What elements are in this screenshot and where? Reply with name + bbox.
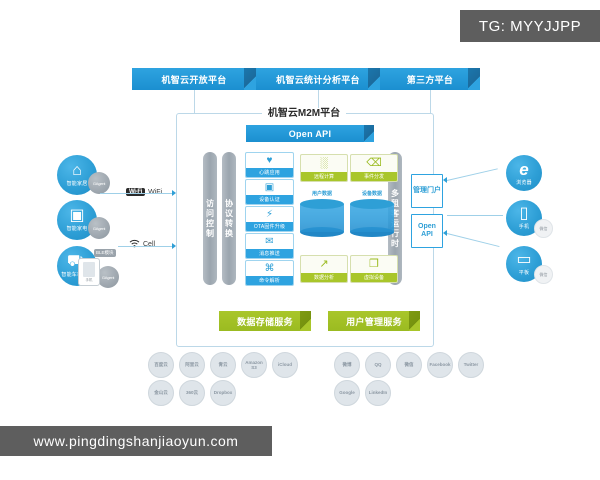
tv-icon: ▣ xyxy=(69,208,84,224)
banner-user-management-label: 用户管理服务 xyxy=(346,315,402,328)
card-virtual-device-label: 虚拟设备 xyxy=(351,273,397,282)
logo-label: 青云 xyxy=(219,362,228,367)
gauge-icon: ░ xyxy=(301,155,347,172)
ie-icon: e xyxy=(519,161,528,178)
gagent-badge-label: GAgent xyxy=(93,181,105,186)
logo-twitter[interactable]: Twitter xyxy=(458,352,484,378)
pillar-access-control-label: 访问控制 xyxy=(205,199,216,239)
banner-open-platform[interactable]: 机智云开放平台 xyxy=(132,68,256,90)
card-remote-control[interactable]: ░ 远程计算 xyxy=(300,154,348,182)
banner-stats-platform-label: 机智云统计分析平台 xyxy=(276,73,360,86)
banner-data-storage-service[interactable]: 数据存储服务 xyxy=(219,311,311,331)
logo-aliyun[interactable]: 阿里云 xyxy=(179,352,205,378)
device-auth-icon: ▣ xyxy=(246,180,293,195)
gagent-badge-label: GAgent xyxy=(93,226,105,231)
banner-data-storage-label: 数据存储服务 xyxy=(237,315,293,328)
logo-label: Amazon S3 xyxy=(244,360,264,370)
connector-line xyxy=(100,193,172,194)
logo-qq[interactable]: QQ xyxy=(365,352,391,378)
open-api-banner-label: Open API xyxy=(289,129,332,139)
card-ota-upgrade[interactable]: ⚡ OTA固件升级 xyxy=(245,206,294,232)
connector-line xyxy=(447,168,498,181)
box-open-api[interactable]: Open API xyxy=(411,214,443,248)
connector-arrow xyxy=(172,243,176,249)
signal-icon xyxy=(129,239,140,249)
card-device-auth[interactable]: ▣ 设备认证 xyxy=(245,179,294,205)
logo-google[interactable]: Google xyxy=(334,380,360,406)
logo-label: 360云 xyxy=(186,390,198,395)
heart-pulse-icon: ♥ xyxy=(246,153,293,168)
gagent-badge: GAgent xyxy=(88,217,110,239)
logo-label: 微博 xyxy=(343,362,352,367)
cylinder-top xyxy=(300,199,344,209)
banner-open-platform-label: 机智云开放平台 xyxy=(161,73,226,86)
logo-icloud[interactable]: iCloud xyxy=(272,352,298,378)
pillar-protocol-conversion: 协议转换 xyxy=(222,152,236,285)
banner-third-party-platform[interactable]: 第三方平台 xyxy=(380,68,480,90)
logo-label: 微信 xyxy=(405,362,414,367)
wechat-badge-label: 微信 xyxy=(540,226,548,232)
terminal-icon: ⌫ xyxy=(351,155,397,172)
card-data-analysis-label: 数据分析 xyxy=(301,273,347,282)
database-user-data: 用户数据 xyxy=(300,190,344,237)
card-remote-control-label: 远程计算 xyxy=(301,172,347,181)
ota-bolt-icon: ⚡ xyxy=(246,207,293,222)
card-command-parse-label: 命令解析 xyxy=(246,276,293,285)
connector-line xyxy=(447,233,500,247)
ble-module-badge: BLE模块 xyxy=(94,249,116,257)
logo-label: QQ xyxy=(374,362,381,367)
logo-label: Google xyxy=(339,390,355,395)
phone-screen-icon xyxy=(83,262,95,277)
box-open-api-label: Open API xyxy=(412,223,442,240)
panel-title: 机智云M2M平台 xyxy=(176,104,432,119)
node-browser-label: 浏览器 xyxy=(516,179,532,186)
connector-line xyxy=(118,246,172,247)
card-virtual-device[interactable]: ❐ 虚拟设备 xyxy=(350,255,398,283)
card-ota-upgrade-label: OTA固件升级 xyxy=(246,222,293,231)
banner-fold-corner xyxy=(368,68,380,90)
logo-dropbox[interactable]: Dropbox xyxy=(210,380,236,406)
virtual-device-icon: ❐ xyxy=(351,256,397,273)
banner-third-party-label: 第三方平台 xyxy=(407,73,454,86)
connector-line xyxy=(447,215,503,216)
phone-icon: ▯ xyxy=(520,206,529,222)
ble-phone-label: 手机 xyxy=(86,278,93,283)
wechat-badge-label: 微信 xyxy=(540,272,548,278)
node-smart-home-label: 智能家居 xyxy=(67,180,88,187)
card-heartbeat-label: 心跳应用 xyxy=(246,168,293,177)
gagent-badge-label: GAgent xyxy=(102,275,114,280)
command-icon: ⌘ xyxy=(246,261,293,276)
banner-fold-corner xyxy=(409,311,420,331)
wifi-icon: Wi-Fi xyxy=(126,188,145,196)
card-heartbeat[interactable]: ♥ 心跳应用 xyxy=(245,152,294,178)
wechat-badge: 微信 xyxy=(534,265,553,284)
banner-fold-corner xyxy=(300,311,311,331)
database-device-data-label: 设备数据 xyxy=(350,190,394,197)
logo-label: Twitter xyxy=(464,362,478,367)
node-tablet-label: 平板 xyxy=(519,269,529,276)
logo-label: 阿里云 xyxy=(185,362,199,367)
logo-qingcloud[interactable]: 青云 xyxy=(210,352,236,378)
open-api-banner[interactable]: Open API xyxy=(246,125,374,142)
logo-facebook[interactable]: Facebook xyxy=(427,352,453,378)
message-push-icon: ✉ xyxy=(246,234,293,249)
pillar-access-control: 访问控制 xyxy=(203,152,217,285)
box-admin-portal[interactable]: 管理门户 xyxy=(411,174,443,208)
line-chart-icon: ↗ xyxy=(301,256,347,273)
connector-arrow xyxy=(443,230,447,236)
node-smart-appliance-label: 智能家电 xyxy=(67,225,88,232)
logo-weibo[interactable]: 微博 xyxy=(334,352,360,378)
card-message-push-label: 消息推送 xyxy=(246,249,293,258)
logo-label: 百度云 xyxy=(154,362,168,367)
logo-label: iCloud xyxy=(278,362,292,367)
ble-phone-device: 手机 xyxy=(78,258,100,286)
banner-user-management-service[interactable]: 用户管理服务 xyxy=(328,311,420,331)
gagent-badge: GAgent xyxy=(88,172,110,194)
banner-fold-corner xyxy=(468,68,480,90)
site-url-watermark: www.pingdingshanjiaoyun.com xyxy=(0,426,272,456)
cylinder-shape xyxy=(300,199,344,237)
card-data-analysis[interactable]: ↗ 数据分析 xyxy=(300,255,348,283)
connector-arrow xyxy=(172,190,176,196)
gagent-badge: GAgent xyxy=(97,266,119,288)
banner-fold-corner xyxy=(364,125,374,142)
node-mobile-label: 手机 xyxy=(519,223,529,230)
database-device-data: 设备数据 xyxy=(350,190,394,237)
diagram-canvas: 机智云开放平台 机智云统计分析平台 第三方平台 机智云M2M平台 Open AP… xyxy=(0,0,600,480)
logo-linkedin[interactable]: LinkedIn xyxy=(365,380,391,406)
logo-label: 金山云 xyxy=(154,390,168,395)
logo-kingsoft-cloud[interactable]: 金山云 xyxy=(148,380,174,406)
connection-wifi-label: WiFi xyxy=(148,189,162,196)
card-event-dispatch[interactable]: ⌫ 事件分发 xyxy=(350,154,398,182)
connection-wifi: Wi-Fi WiFi xyxy=(126,188,162,196)
card-device-auth-label: 设备认证 xyxy=(246,195,293,204)
logo-wechat[interactable]: 微信 xyxy=(396,352,422,378)
home-icon: ⌂ xyxy=(72,163,82,179)
tablet-icon: ▭ xyxy=(516,252,531,268)
logo-baidu-cloud[interactable]: 百度云 xyxy=(148,352,174,378)
panel-title-text: 机智云M2M平台 xyxy=(262,108,346,119)
database-user-data-label: 用户数据 xyxy=(300,190,344,197)
node-browser[interactable]: e 浏览器 xyxy=(506,155,542,191)
pillar-protocol-conversion-label: 协议转换 xyxy=(224,199,235,239)
logo-label: Facebook xyxy=(430,362,451,367)
tg-watermark-tag: TG: MYYJJPP xyxy=(460,10,600,42)
connector-arrow xyxy=(443,177,447,183)
logo-360-cloud[interactable]: 360云 xyxy=(179,380,205,406)
cylinder-shape xyxy=(350,199,394,237)
card-event-dispatch-label: 事件分发 xyxy=(351,172,397,181)
banner-fold-corner xyxy=(244,68,256,90)
logo-amazon-s3[interactable]: Amazon S3 xyxy=(241,352,267,378)
card-message-push[interactable]: ✉ 消息推送 xyxy=(245,233,294,259)
logo-label: LinkedIn xyxy=(369,390,388,395)
box-admin-portal-label: 管理门户 xyxy=(413,187,441,195)
connection-cell: Cell xyxy=(129,239,155,249)
cylinder-top xyxy=(350,199,394,209)
wechat-badge: 微信 xyxy=(534,219,553,238)
card-command-parse[interactable]: ⌘ 命令解析 xyxy=(245,260,294,286)
banner-stats-platform[interactable]: 机智云统计分析平台 xyxy=(256,68,380,90)
logo-label: Dropbox xyxy=(214,390,233,395)
